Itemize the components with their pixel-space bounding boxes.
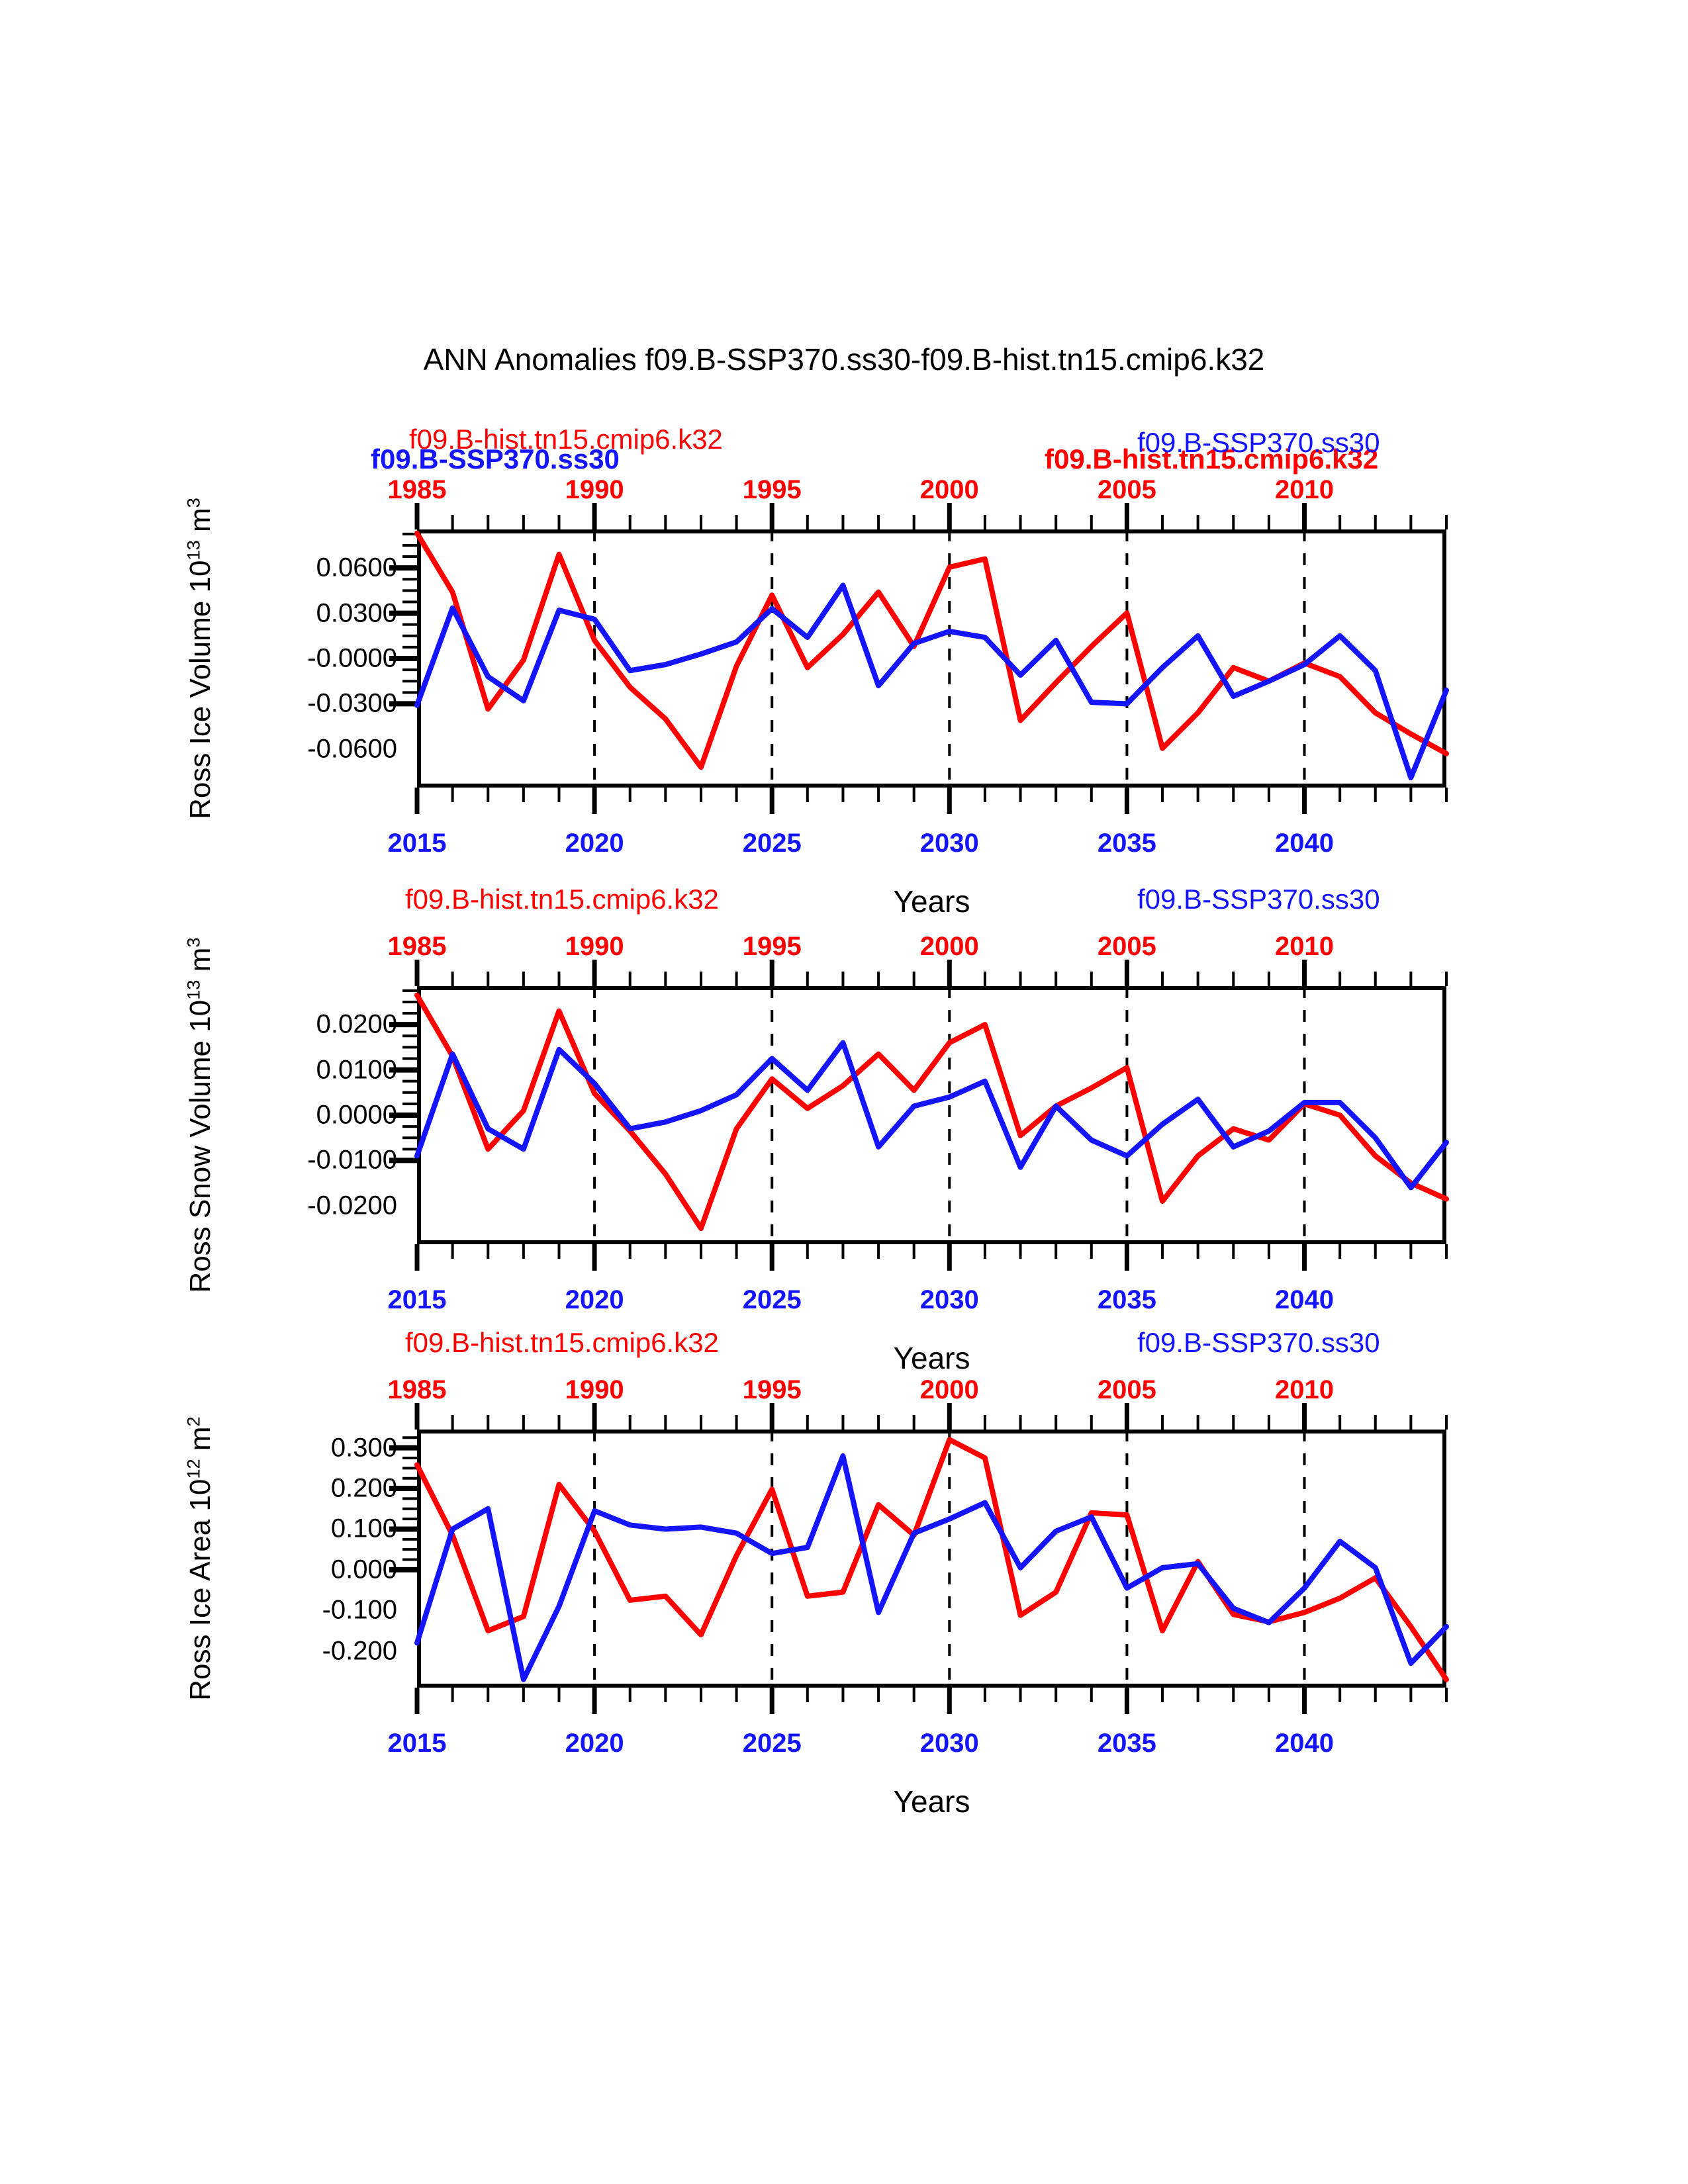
- ytick-3-2: 0.100: [199, 1514, 397, 1544]
- xtick-top-1995-p1: 1995: [743, 475, 802, 505]
- ytick-3-0: 0.300: [199, 1433, 397, 1463]
- plot-area-1: [417, 529, 1446, 788]
- xtick-top-1985-p1: 1985: [388, 475, 447, 505]
- xtick-bottom-2025-p3: 2025: [743, 1729, 802, 1758]
- legend-blue-right: f09.B-SSP370.ss30: [1137, 427, 1380, 459]
- xtick-top-2005-p3: 2005: [1098, 1375, 1156, 1405]
- xtick-top-2000-p3: 2000: [920, 1375, 979, 1405]
- xtick-top-1990-p1: 1990: [565, 475, 624, 505]
- xtick-bottom-2020-p2: 2020: [565, 1285, 624, 1315]
- xaxis-title-1: Years: [894, 884, 970, 919]
- xtick-bottom-2040-p2: 2040: [1275, 1285, 1334, 1315]
- xtick-top-1990-p2: 1990: [565, 932, 624, 962]
- figure-title: ANN Anomalies f09.B-SSP370.ss30-f09.B-hi…: [0, 341, 1688, 377]
- xtick-top-1985-p3: 1985: [388, 1375, 447, 1405]
- xtick-bottom-2025-p1: 2025: [743, 829, 802, 858]
- xtick-top-2005-p2: 2005: [1098, 932, 1156, 962]
- xtick-top-2000-p1: 2000: [920, 475, 979, 505]
- xtick-top-1990-p3: 1990: [565, 1375, 624, 1405]
- ytick-1-0: 0.0600: [199, 553, 397, 583]
- xtick-top-2010-p3: 2010: [1275, 1375, 1334, 1405]
- legend-red-3: f09.B-hist.tn15.cmip6.k32: [405, 1327, 719, 1359]
- plot-area-3: [417, 1430, 1446, 1688]
- xtick-top-1995-p3: 1995: [743, 1375, 802, 1405]
- xaxis-title-2: Years: [894, 1340, 970, 1376]
- ytick-2-1: 0.0100: [199, 1055, 397, 1085]
- ytick-2-3: -0.0100: [199, 1146, 397, 1175]
- legend-blue-3: f09.B-SSP370.ss30: [1137, 1327, 1380, 1359]
- legend-blue-2: f09.B-SSP370.ss30: [1137, 884, 1380, 915]
- ytick-3-4: -0.100: [199, 1596, 397, 1625]
- xtick-top-2010-p1: 2010: [1275, 475, 1334, 505]
- ytick-1-2: -0.0000: [199, 644, 397, 674]
- xtick-bottom-2015-p1: 2015: [388, 829, 447, 858]
- xtick-top-2010-p2: 2010: [1275, 932, 1334, 962]
- xtick-bottom-2020-p1: 2020: [565, 829, 624, 858]
- xaxis-title-3: Years: [894, 1784, 970, 1819]
- xtick-top-2000-p2: 2000: [920, 932, 979, 962]
- ytick-2-0: 0.0200: [199, 1010, 397, 1040]
- ytick-1-4: -0.0600: [199, 734, 397, 764]
- xtick-top-2005-p1: 2005: [1098, 475, 1156, 505]
- xtick-bottom-2035-p1: 2035: [1098, 829, 1156, 858]
- xtick-bottom-2035-p2: 2035: [1098, 1285, 1156, 1315]
- ytick-2-2: 0.0000: [199, 1101, 397, 1130]
- ytick-1-1: 0.0300: [199, 598, 397, 628]
- xtick-bottom-2020-p3: 2020: [565, 1729, 624, 1758]
- ytick-3-1: 0.200: [199, 1474, 397, 1504]
- xtick-top-1985-p2: 1985: [388, 932, 447, 962]
- ytick-3-3: 0.000: [199, 1555, 397, 1584]
- yaxis-title-3: Ross Ice Area 1012 m2: [184, 1320, 217, 1797]
- legend-blue-left: f09.B-SSP370.ss30: [371, 443, 620, 475]
- xtick-top-1995-p2: 1995: [743, 932, 802, 962]
- ytick-2-4: -0.0200: [199, 1191, 397, 1220]
- ytick-3-5: -0.200: [199, 1636, 397, 1666]
- xtick-bottom-2015-p2: 2015: [388, 1285, 447, 1315]
- xtick-bottom-2030-p3: 2030: [920, 1729, 979, 1758]
- xtick-bottom-2015-p3: 2015: [388, 1729, 447, 1758]
- xtick-bottom-2030-p1: 2030: [920, 829, 979, 858]
- figure-canvas: ANN Anomalies f09.B-SSP370.ss30-f09.B-hi…: [0, 0, 1688, 2184]
- ytick-1-3: -0.0300: [199, 689, 397, 719]
- xtick-bottom-2040-p1: 2040: [1275, 829, 1334, 858]
- xtick-bottom-2035-p3: 2035: [1098, 1729, 1156, 1758]
- xtick-bottom-2025-p2: 2025: [743, 1285, 802, 1315]
- xtick-bottom-2030-p2: 2030: [920, 1285, 979, 1315]
- legend-red-2: f09.B-hist.tn15.cmip6.k32: [405, 884, 719, 915]
- yaxis-title-2: Ross Snow Volume 1013 m3: [184, 877, 217, 1353]
- yaxis-title-1: Ross Ice Volume 1013 m3: [184, 420, 217, 897]
- xtick-bottom-2040-p3: 2040: [1275, 1729, 1334, 1758]
- plot-area-2: [417, 986, 1446, 1244]
